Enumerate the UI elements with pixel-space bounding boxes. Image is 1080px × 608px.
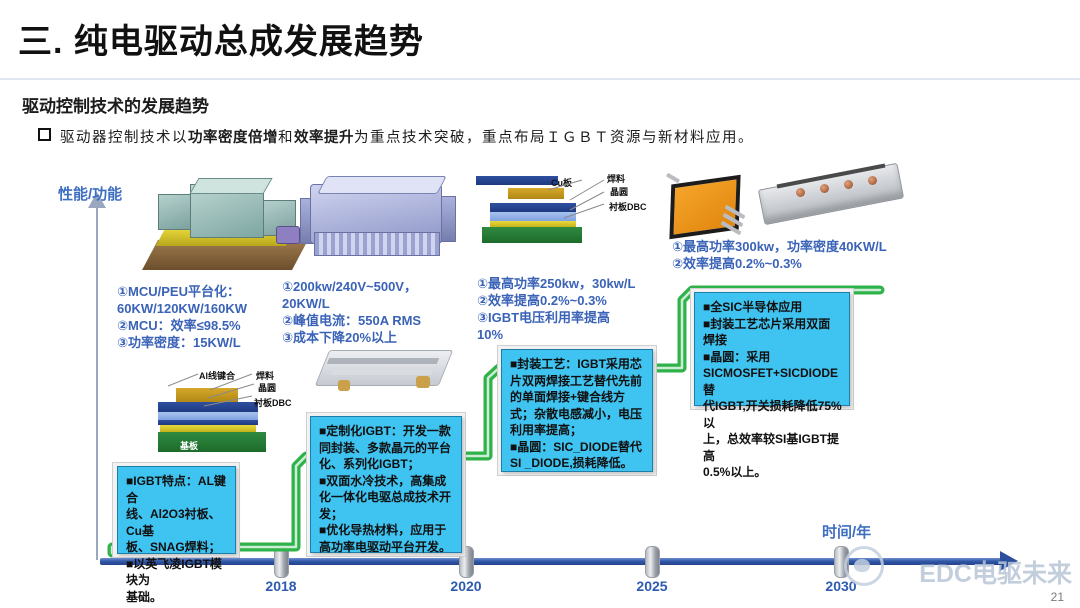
y-axis-label: 性能/功能 [58, 183, 122, 204]
spec-2020: ①200kw/240V~500V， 20KW/L ②峰值电流：550A RMS … [282, 278, 460, 346]
bullet-text-bold-1: 功率密度倍增 [188, 130, 278, 146]
timeline-year-0: 2018 [251, 578, 311, 594]
bullet-text-bold-2: 效率提升 [294, 130, 354, 146]
mcu-assembly-image [150, 178, 310, 278]
page-number: 21 [1051, 590, 1064, 604]
spec-2018: ①MCU/PEU平台化： 60KW/120KW/160KW ②MCU：效率≤98… [117, 283, 287, 351]
slide-canvas: 三. 纯电驱动总成发展趋势 驱动控制技术的发展趋势 驱动器控制技术以功率密度倍增… [0, 0, 1080, 608]
page-title: 三. 纯电驱动总成发展趋势 [18, 14, 424, 63]
inverter-housing-image [300, 176, 460, 272]
timeline-tick-2018 [274, 546, 289, 578]
box-2020: ■定制化IGBT：开发一款 同封装、多款晶元的平台 化、系列化IGBT； ■双面… [310, 416, 462, 553]
box-2030: ■全SIC半导体应用 ■封装工艺芯片采用双面焊接 ■晶圆：采用 SICMOSFE… [694, 292, 850, 406]
watermark-text: EDC电驱未来 [919, 554, 1072, 590]
section-subtitle: 驱动控制技术的发展趋势 [22, 92, 209, 117]
bullet-text-prefix: 驱动器控制技术以 [60, 130, 188, 146]
leader-lines-left [160, 368, 270, 418]
timeline-tick-2025 [645, 546, 660, 578]
box-2018: ■IGBT特点：AL键合 线、Al2O3衬板、Cu基 板、SNAG焊料； ■以英… [117, 466, 236, 554]
cooling-plate-image [318, 340, 448, 402]
x-axis-label: 时间/年 [822, 521, 871, 542]
leader-lines-right [540, 170, 650, 230]
spec-2025: ①最高功率250kw，30kw/L ②效率提高0.2%~0.3% ③IGBT电压… [477, 275, 657, 343]
sic-chip-module-image [662, 170, 752, 238]
box-2025: ■封装工艺：IGBT采用芯 片双两焊接工艺替代先前 的单面焊接+键合线方 式；杂… [501, 349, 653, 472]
power-module-bar-image [760, 170, 920, 232]
title-divider [0, 78, 1080, 80]
watermark-logo-icon [844, 546, 884, 586]
y-axis-line [96, 205, 98, 560]
bullet-text-suffix: 为重点技术突破，重点布局ＩＧＢＴ资源与新材料应用。 [354, 130, 754, 146]
timeline-year-1: 2020 [436, 578, 496, 594]
bullet-text-mid: 和 [278, 130, 294, 146]
bullet-line: 驱动器控制技术以功率密度倍增和效率提升为重点技术突破，重点布局ＩＧＢＴ资源与新材… [38, 126, 1068, 147]
square-bullet-icon [38, 128, 51, 141]
label-substrate: 基板 [180, 439, 198, 452]
spec-2030: ①最高功率300kw，功率密度40KW/L ②效率提高0.2%~0.3% [672, 238, 912, 272]
timeline-year-2: 2025 [622, 578, 682, 594]
